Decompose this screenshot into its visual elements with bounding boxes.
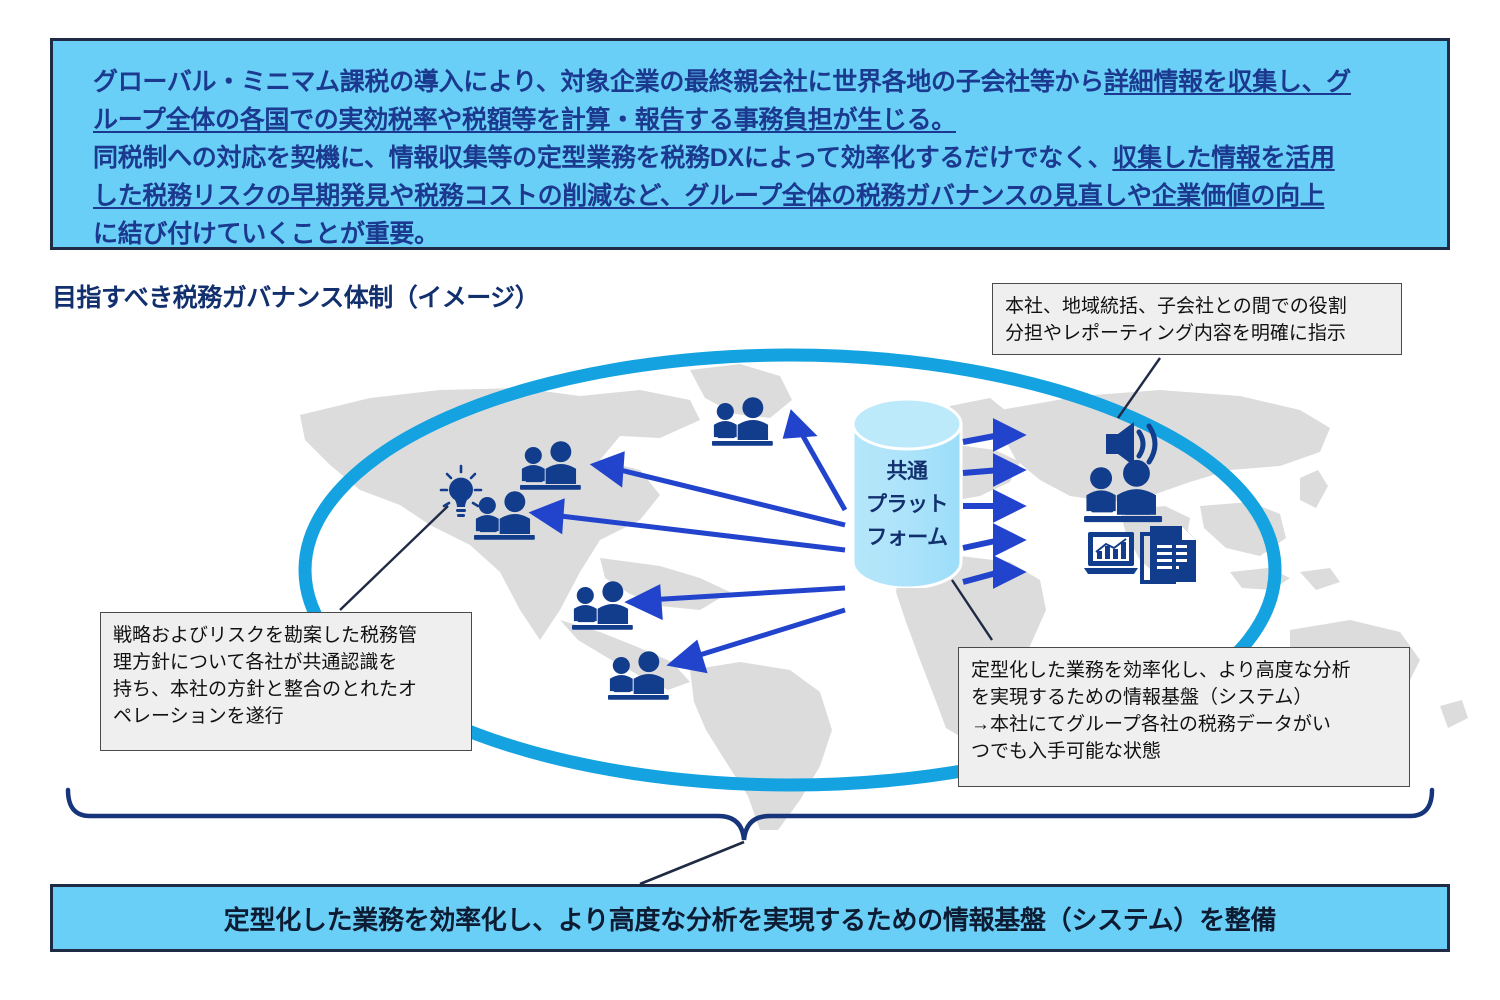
- arrow-head-5: [672, 644, 704, 670]
- summary-line3-underlined: 収集した情報を活用: [1112, 144, 1334, 172]
- platform-label: 共通 プラット フォーム: [851, 455, 963, 554]
- summary-text: グローバル・ミニマム課税の導入により、対象企業の最終親会社に世界各地の子会社等か…: [93, 63, 1423, 253]
- section-title: 目指すべき税務ガバナンス体制（イメージ）: [52, 278, 539, 314]
- callout-top-right: 本社、地域統括、子会社との間での役割 分担やレポーティング内容を明確に指示: [992, 283, 1402, 355]
- bottom-banner-text: 定型化した業務を効率化し、より高度な分析を実現するための情報基盤（システム）を整…: [224, 900, 1276, 937]
- arrow-line-5: [690, 610, 845, 658]
- summary-line2-underlined: ループ全体の各国での実効税率や税額等を計算・報告する事務負担が生じる。: [93, 106, 956, 134]
- out-arrow-head-3: [996, 494, 1020, 518]
- summary-line1-plain: グローバル・ミニマム課税の導入により、対象企業の最終親会社に世界各地の子会社等か…: [93, 68, 1104, 96]
- summary-line1-underlined: 詳細情報を収集し、グ: [1104, 68, 1351, 96]
- summary-line4-underlined: した税務リスクの早期発見や税務コストの削減など、グループ全体の税務ガバナンスの見…: [93, 182, 1325, 210]
- callout-left: 戦略およびリスクを勘案した税務管 理方針について各社が共通認識を 持ち、本社の方…: [100, 612, 472, 751]
- bar-chart-laptop-icon: [1084, 532, 1138, 574]
- arrow-head-1: [786, 414, 812, 436]
- summary-line5-plain: に結び付けていくことが重要。: [93, 220, 439, 248]
- summary-brace: [0, 780, 1500, 890]
- leader-line-left-callout: [340, 506, 448, 610]
- summary-line3-plain: 同税制への対応を契機に、情報収集等の定型業務を税務DXによって効率化するだけでな…: [93, 144, 1112, 172]
- callout-bottom-right: 定型化した業務を効率化し、より高度な分析 を実現するための情報基盤（システム） …: [958, 647, 1410, 787]
- brace-connector-line: [640, 842, 744, 884]
- bottom-banner: 定型化した業務を効率化し、より高度な分析を実現するための情報基盤（システム）を整…: [50, 884, 1450, 952]
- out-arrow-head-4: [996, 528, 1020, 552]
- document-icon: [1142, 526, 1196, 582]
- slide-root: グローバル・ミニマム課税の導入により、対象企業の最終親会社に世界各地の子会社等か…: [0, 0, 1500, 1000]
- summary-box: グローバル・ミニマム課税の導入により、対象企業の最終親会社に世界各地の子会社等か…: [50, 38, 1450, 250]
